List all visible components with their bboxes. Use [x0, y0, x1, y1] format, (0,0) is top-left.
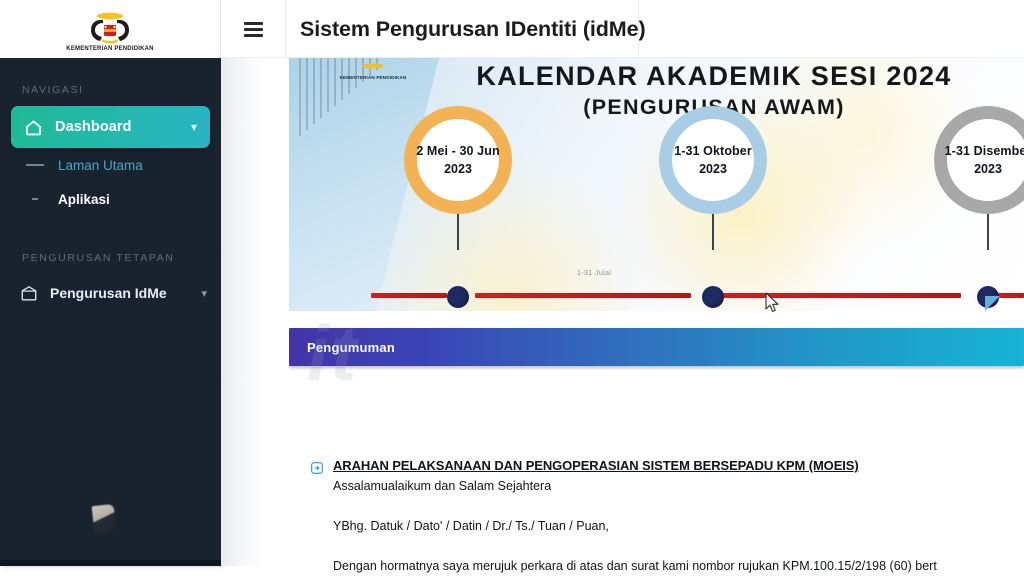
home-icon [24, 118, 43, 137]
timeline-node: 1-31 Disember 2023 Semakan Penempatan / … [934, 106, 1024, 214]
logo-caption: KEMENTERIAN PENDIDIKAN [66, 46, 153, 52]
malaysia-coat-of-arms-icon [81, 11, 139, 45]
sidebar-item-laman-utama[interactable]: Laman Utama [0, 148, 221, 182]
link-badge-icon [311, 461, 323, 473]
sidebar-item-aplikasi[interactable]: Aplikasi [0, 182, 221, 216]
sidebar-navigation: NAVIGASI Dashboard ▾ Laman Utama Aplikas… [0, 58, 221, 566]
sidebar-item-pengurusan-idme[interactable]: Pengurusan IdMe ▾ [0, 274, 221, 312]
timeline-ring: 1-31 Oktober 2023 [659, 106, 767, 214]
chevron-down-icon: ▾ [191, 120, 197, 134]
banner-corner-accent [985, 296, 1000, 311]
chevron-down-icon: ▾ [201, 287, 207, 300]
timeline-line-segment [475, 293, 691, 298]
timeline-year: 2023 [974, 162, 1002, 176]
sidebar-item-aplikasi-label: Aplikasi [58, 192, 110, 207]
announcement-title-link[interactable]: ARAHAN PELAKSANAAN DAN PENGOPERASIAN SIS… [333, 458, 859, 474]
sidebar-item-pengurusan-idme-label: Pengurusan IdMe [50, 285, 167, 301]
dot-marker-icon [32, 198, 38, 200]
timeline-line-segment [371, 293, 447, 298]
announcement-salutation: YBhg. Datuk / Dato' / Datin / Dr./ Ts./ … [333, 518, 1011, 535]
timeline-side-note: 1-31 Julai [577, 270, 611, 277]
announcement-title-row: ARAHAN PELAKSANAAN DAN PENGOPERASIAN SIS… [311, 458, 1011, 474]
application-window: KEMENTERIAN PENDIDIKAN Sistem Pengurusan… [0, 0, 1024, 576]
top-header-bar: KEMENTERIAN PENDIDIKAN Sistem Pengurusan… [0, 0, 1024, 58]
banner-coat-of-arms-icon [353, 58, 393, 74]
logo-wrap: KEMENTERIAN PENDIDIKAN [51, 3, 169, 55]
timeline-year: 2023 [699, 162, 727, 176]
hamburger-menu-icon [244, 22, 263, 37]
timeline-dot [702, 286, 724, 308]
timeline-stem [987, 214, 989, 250]
announcement-section-title: Pengumuman [307, 340, 395, 355]
sidebar-item-laman-utama-label: Laman Utama [58, 158, 143, 173]
timeline-date: 2 Mei - 30 Jun [416, 144, 499, 158]
sidebar-item-dashboard[interactable]: Dashboard ▾ [11, 106, 210, 148]
timeline-date: 1-31 Disember [945, 144, 1024, 158]
timeline-stem [457, 214, 459, 250]
mouse-cursor-icon [765, 292, 780, 313]
timeline-year: 2023 [444, 162, 472, 176]
page-title: Sistem Pengurusan IDentiti (idMe) [286, 0, 646, 58]
dash-marker-icon [26, 164, 44, 166]
announcement-section-header: Pengumuman [289, 328, 1024, 366]
header-divider [638, 0, 639, 58]
banner-ministry-logo: KEMENTERIAN PENDIDIKAN [317, 58, 429, 80]
timeline-stem [712, 214, 714, 250]
banner-logo-caption: KEMENTERIAN PENDIDIKAN [317, 75, 429, 80]
ministry-logo-cell: KEMENTERIAN PENDIDIKAN [0, 0, 221, 58]
content-gutter [221, 58, 289, 566]
sidebar-item-dashboard-label: Dashboard [55, 119, 132, 135]
main-content-area: KEMENTERIAN PENDIDIKAN KALENDAR AKADEMIK… [289, 58, 1024, 576]
box-icon [20, 285, 38, 302]
academic-calendar-banner: KEMENTERIAN PENDIDIKAN KALENDAR AKADEMIK… [289, 58, 1024, 311]
sidebar-section-pengurusan-tetapan: PENGURUSAN TETAPAN [0, 216, 221, 274]
timeline-dot [447, 286, 469, 308]
timeline-date: 1-31 Oktober [674, 144, 752, 158]
banner-title-line-1: KALENDAR AKADEMIK SESI 2024 [434, 62, 994, 90]
announcement-greeting: Assalamualaikum dan Salam Sejahtera [333, 478, 1011, 495]
sidebar-toggle-button[interactable] [221, 0, 286, 58]
timeline-node: 2 Mei - 30 Jun 2023 Pendaftaran Kemasuka… [404, 106, 512, 214]
timeline-line-segment [719, 293, 961, 298]
timeline-ring: 2 Mei - 30 Jun 2023 [404, 106, 512, 214]
timeline-ring: 1-31 Disember 2023 [934, 106, 1024, 214]
timeline-node: 1-31 Oktober 2023 Semakan Penempatan / P… [659, 106, 767, 214]
announcement-paragraph: Dengan hormatnya saya merujuk perkara di… [333, 558, 1011, 575]
sidebar-section-navigasi: NAVIGASI [0, 58, 221, 106]
announcement-item: ARAHAN PELAKSANAAN DAN PENGOPERASIAN SIS… [311, 458, 1011, 575]
sidebar-image-artifact [92, 504, 117, 534]
